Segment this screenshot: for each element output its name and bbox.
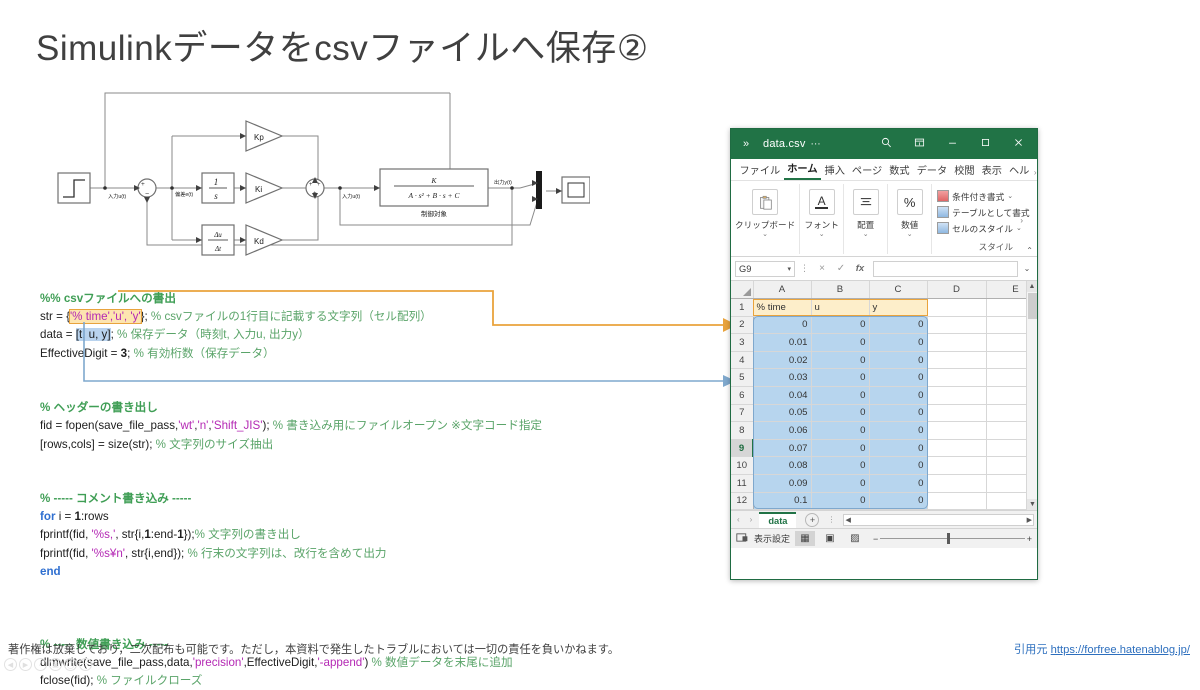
clipboard-icon [752,189,778,215]
view-settings-label[interactable]: 表示設定 [754,532,790,545]
ribbon-overflow-icon[interactable]: › [1020,216,1023,225]
copy-icon[interactable]: ▣ [49,658,62,671]
enter-icon[interactable]: ✓ [833,263,849,274]
style-row-label: 条件付き書式 [952,190,1004,203]
excel-document-title: data.csv [763,138,806,150]
code-token: % 数値データを末尾に追加 [372,656,513,669]
number-format-icon: % [897,189,923,215]
chevron-down-icon[interactable]: ⌄ [1016,224,1022,232]
svg-text:A · s² + B · s + C: A · s² + B · s + C [408,191,461,200]
sum-block-1: + − [138,179,156,198]
code-line: for i = 1:rows [40,508,600,526]
excel-window[interactable]: » data.csv ⋯ ファイルホーム挿入ページ数式データ校閲表示ヘル› [730,128,1038,580]
row-header-2[interactable]: 2 [731,316,753,334]
cell-D12[interactable] [927,492,986,510]
code-blank-line [40,472,600,490]
svg-text:Ki: Ki [255,185,262,194]
zoom-slider-knob[interactable] [947,533,950,544]
cell-A6[interactable]: 0.04 [753,387,811,405]
font-icon: A [809,189,835,215]
prev-icon[interactable]: ◀ [4,658,17,671]
svg-text:Kp: Kp [254,133,264,142]
code-token: fid = fopen(save_file_pass, [40,419,178,432]
alignment-icon [853,189,879,215]
cell-B7[interactable]: 0 [811,404,869,422]
svg-text:s: s [214,191,218,201]
row-header-3[interactable]: 3 [731,334,753,352]
code-token: end [40,565,61,578]
excel-ribbon-tabs[interactable]: ファイルホーム挿入ページ数式データ校閲表示ヘル› [731,159,1037,181]
cell-A9[interactable]: 0.07 [753,439,811,457]
code-token: '%s¥n' [92,547,125,560]
page-title: Simulinkデータをcsvファイルへ保存② [36,20,649,71]
ribbon-display-options-icon[interactable] [903,137,936,151]
ribbon-group-alignment[interactable]: 配置 ⌄ [844,184,888,254]
cell-B11[interactable]: 0 [811,475,869,493]
tabs-overflow-icon[interactable]: › [1034,168,1037,180]
format-as-table-icon [937,206,949,218]
code-token: % ----- コメント書き込み ----- [40,492,191,505]
code-blank-line [40,581,600,599]
code-token: fclose(fid); [40,674,97,687]
code-token: % 保存データ（時刻t, 入力u, 出力y） [117,328,310,341]
cell-C4[interactable]: 0 [869,351,927,369]
code-token: 'precision' [193,656,244,669]
copyright-note: 著作権は放棄しており，二次配布も可能です。ただし，本資料で発生したトラブルにおい… [8,641,619,657]
ribbon-group-clipboard[interactable]: クリップボード ⌄ [731,184,800,254]
code-line: fprintf(fid, '%s¥n', str{i,end}); % 行末の文… [40,545,600,563]
source-credit: 引用元 https://forfree.hatenablog.jp/ [1014,641,1190,657]
code-blank-line [40,454,600,472]
sheet-menu-icon[interactable]: ⋮ [827,515,835,524]
view-page-layout-icon[interactable]: ▣ [820,531,840,546]
table-row[interactable]: 30.0100 [731,334,1037,352]
svg-text:Δu: Δu [213,231,222,239]
mux-block [536,171,542,209]
code-line: end [40,563,600,581]
scroll-up-icon[interactable]: ▲ [1027,281,1037,292]
code-line: % ヘッダーの書き出し [40,399,600,417]
code-token: , str{i,end}); [125,547,188,560]
cell-D3[interactable] [927,334,986,352]
column-header-C[interactable]: C [869,281,927,299]
cell-B4[interactable]: 0 [811,351,869,369]
cell-styles-icon [937,222,949,234]
code-token: }; [141,310,151,323]
excel-tab-0[interactable]: ファイル [736,160,784,180]
cell-A11[interactable]: 0.09 [753,475,811,493]
ribbon-group-label: クリップボード [735,219,795,231]
code-token: '% time','u', 'y' [70,310,141,323]
cell-D11[interactable] [927,475,986,493]
cell-D5[interactable] [927,369,986,387]
row-header-6[interactable]: 6 [731,387,753,405]
svg-text:1: 1 [214,177,219,187]
table-row[interactable]: 70.0500 [731,404,1037,422]
signal-label-output-y: 出力y(t) [494,178,512,186]
code-token: data = [40,328,76,341]
excel-tab-5[interactable]: データ [913,160,951,180]
formula-input[interactable] [873,261,1018,277]
excel-tab-3[interactable]: ページ [848,160,885,180]
code-token: [rows,cols] = size(str); [40,438,156,451]
cell-B8[interactable]: 0 [811,422,869,440]
table-row[interactable]: 90.0700 [731,439,1037,457]
zoom-slider[interactable]: − + [873,534,1032,544]
step-source-block [58,173,90,203]
row-header-7[interactable]: 7 [731,404,753,422]
code-blank-line [40,599,600,617]
view-page-break-icon[interactable]: ▨ [845,531,865,546]
code-blank-line [40,363,600,381]
matlab-code-block: %% csvファイルへの書出str = {'% time','u', 'y'};… [40,290,600,690]
column-header-D[interactable]: D [927,281,986,299]
code-token: :end- [151,528,177,541]
scroll-down-icon[interactable]: ▼ [1027,499,1037,510]
title-ellipsis-icon: ⋯ [811,139,822,150]
cancel-icon[interactable]: × [814,263,830,274]
code-token: ,EffectiveDigit, [244,656,318,669]
svg-text:制御対象: 制御対象 [421,209,448,218]
svg-text:Δt: Δt [214,245,222,253]
cell-C5[interactable]: 0 [869,369,927,387]
table-row[interactable]: 40.0200 [731,351,1037,369]
select-all-corner[interactable] [731,281,753,299]
row-header-4[interactable]: 4 [731,351,753,369]
code-token: }); [184,528,195,541]
cell-C12[interactable]: 0 [869,492,927,510]
excel-ribbon[interactable]: クリップボード ⌄ A フォント ⌄ 配置 ⌄ % 数値 [731,181,1037,257]
code-token: % ヘッダーの書き出し [40,401,158,414]
cell-C11[interactable]: 0 [869,475,927,493]
cell-C3[interactable]: 0 [869,334,927,352]
code-line: str = {'% time','u', 'y'}; % csvファイルの1行目… [40,308,600,326]
svg-text:−: − [145,191,149,198]
chevron-down-icon[interactable]: ▾ [787,265,791,273]
zoom-in-icon[interactable]: + [1027,534,1032,544]
code-token: %% csvファイルへの書出 [40,292,176,305]
column-header-A[interactable]: A [753,281,811,299]
simulink-block-diagram: + − 1 s Δu Δt Kp Ki Kd [50,85,590,270]
zoom-out-icon[interactable]: − [873,534,878,544]
cell-D9[interactable] [927,439,986,457]
cell-C1[interactable]: y [869,299,927,317]
chevron-down-icon[interactable]: ⌄ [1007,192,1013,200]
cell-A5[interactable]: 0.03 [753,369,811,387]
view-normal-icon[interactable]: ▦ [795,531,815,546]
excel-tab-7[interactable]: 表示 [978,160,1005,180]
code-token: i = [55,510,74,523]
excel-formula-bar[interactable]: G9 ▾ ⋮ × ✓ fx ⌄ [731,257,1037,281]
chevron-down-icon[interactable]: ⌄ [762,231,768,238]
cell-B9[interactable]: 0 [811,439,869,457]
minus-icon[interactable]: − [79,658,92,671]
scroll-right-icon[interactable]: ▶ [1027,516,1032,524]
excel-tab-4[interactable]: 数式 [886,160,913,180]
sheet-tab-data[interactable]: data [759,512,796,528]
cell-D2[interactable] [927,316,986,334]
cell-A10[interactable]: 0.08 [753,457,811,475]
excel-worksheet-grid[interactable]: ABCDE 1% timeuy200030.010040.020050.0300… [731,281,1037,510]
expand-formula-bar-icon[interactable]: ⌄ [1021,264,1033,273]
horizontal-scrollbar[interactable]: ◀ ▶ [843,514,1034,526]
ribbon-group-label: 配置 [857,219,874,231]
code-token: ); [262,419,272,432]
cell-C7[interactable]: 0 [869,404,927,422]
gain-block-kp: Kp [246,121,282,151]
table-row[interactable]: 2000 [731,316,1037,334]
row-header-1[interactable]: 1 [731,299,753,317]
cell-C2[interactable]: 0 [869,316,927,334]
code-token: '-append' [317,656,364,669]
code-line: fid = fopen(save_file_pass,'wt','n','Shi… [40,417,600,435]
signal-label-input-u: 入力u(t) [108,192,126,200]
code-blank-line [40,381,600,399]
cell-D1[interactable] [927,299,986,317]
conditional-formatting-icon [937,190,949,202]
derivative-block: Δu Δt [202,225,234,255]
code-token: 'n' [198,419,209,432]
scrollbar-thumb[interactable] [1028,293,1037,319]
gain-block-ki: Ki [246,173,282,203]
next-sheet-icon[interactable]: › [747,515,756,524]
formula-bar-divider-icon: ⋮ [798,263,811,274]
view-settings-icon [736,532,749,545]
cell-B10[interactable]: 0 [811,457,869,475]
code-token: % csvファイルの1行目に記載する文字列（セル配列） [151,310,432,323]
table-row[interactable]: 80.0600 [731,422,1037,440]
conditional-formatting-button[interactable]: 条件付き書式 ⌄ [937,188,1035,204]
svg-text:Kd: Kd [254,237,264,246]
close-icon[interactable] [1002,137,1035,151]
code-token: EffectiveDigit = [40,347,121,360]
cell-B3[interactable]: 0 [811,334,869,352]
signal-label-pid-u: 入力u(t) [342,192,360,200]
table-row[interactable]: 50.0300 [731,369,1037,387]
source-credit-link[interactable]: https://forfree.hatenablog.jp/ [1051,644,1190,656]
cell-B12[interactable]: 0 [811,492,869,510]
table-row[interactable]: 100.0800 [731,457,1037,475]
code-token: % ファイルクローズ [97,674,203,687]
ribbon-collapse-icon[interactable]: ⌃ [1026,246,1033,255]
ribbon-group-number[interactable]: % 数値 ⌄ [888,184,932,254]
code-line: % ----- コメント書き込み ----- [40,490,600,508]
cell-D7[interactable] [927,404,986,422]
code-blank-line [40,617,600,635]
table-row[interactable]: 60.0400 [731,387,1037,405]
table-row[interactable]: 120.100 [731,492,1037,510]
source-credit-label: 引用元 [1014,644,1048,656]
code-token: % 行末の文字列は、改行を含めて出力 [188,547,387,560]
cell-A2[interactable]: 0 [753,316,811,334]
sheet-tab-bar[interactable]: ‹ › data + ⋮ ◀ ▶ [731,510,1037,528]
row-header-8[interactable]: 8 [731,422,753,440]
style-row-label: テーブルとして書式 [952,206,1029,219]
ribbon-group-font[interactable]: A フォント ⌄ [800,184,844,254]
row-header-12[interactable]: 12 [731,492,753,510]
ribbon-group-styles[interactable]: 条件付き書式 ⌄ テーブルとして書式 セルのスタイル ⌄ スタイル › [932,184,1037,254]
code-line: data = [t, u, y]; % 保存データ（時刻t, 入力u, 出力y） [40,326,600,344]
scroll-left-icon[interactable]: ◀ [845,516,850,524]
cell-D6[interactable] [927,387,986,405]
cell-D10[interactable] [927,457,986,475]
excel-tab-8[interactable]: ヘル [1005,160,1032,180]
column-header-row: ABCDE [731,281,1037,299]
next-icon[interactable]: ▶ [19,658,32,671]
code-token: fprintf(fid, [40,547,92,560]
chevron-down-icon[interactable]: ⌄ [819,231,825,238]
code-token: % 文字列のサイズ抽出 [156,438,274,451]
ribbon-group-label: フォント [804,219,838,231]
name-box-value: G9 [739,264,751,274]
table-row[interactable]: 110.0900 [731,475,1037,493]
plant-transfer-function-block: K A · s² + B · s + C 制御対象 [380,169,488,218]
cell-B2[interactable]: 0 [811,316,869,334]
excel-tab-1[interactable]: ホーム [784,158,821,180]
excel-tab-2[interactable]: 挿入 [821,160,848,180]
cell-C10[interactable]: 0 [869,457,927,475]
code-token: , str{i, [115,528,144,541]
cell-A7[interactable]: 0.05 [753,404,811,422]
code-line: [rows,cols] = size(str); % 文字列のサイズ抽出 [40,436,600,454]
cell-C9[interactable]: 0 [869,439,927,457]
zoom-slider-track[interactable] [880,538,1024,539]
code-token: % 書き込み用にファイルオープン ※文字コード指定 [273,419,542,432]
styles-group-label: スタイル [979,241,1013,253]
cell-D4[interactable] [927,351,986,369]
quick-access-chevron-icon[interactable]: » [733,138,759,150]
pen-icon[interactable]: / [34,658,47,671]
excel-title-bar: » data.csv ⋯ [731,129,1037,159]
code-token: '%s,' [92,528,116,541]
cell-C8[interactable]: 0 [869,422,927,440]
code-token: % 文字列の書き出し [195,528,301,541]
worksheet-body[interactable]: 1% timeuy200030.010040.020050.030060.040… [731,299,1037,510]
svg-text:K: K [430,176,437,185]
cell-A3[interactable]: 0.01 [753,334,811,352]
search-icon[interactable] [870,137,903,151]
code-token: % 有効桁数（保存データ） [134,347,275,360]
style-row-label: セルのスタイル [952,222,1013,235]
table-row[interactable]: 1% timeuy [731,299,1037,317]
svg-text:+: + [141,181,145,188]
code-token: str = { [40,310,70,323]
row-header-10[interactable]: 10 [731,457,753,475]
cell-B1[interactable]: u [811,299,869,317]
chevron-down-icon[interactable]: ⌄ [907,231,913,238]
prev-sheet-icon[interactable]: ‹ [734,515,743,524]
scope-block [562,177,590,203]
signal-label-error-e: 偏差e(t) [175,190,193,198]
maximize-icon[interactable] [969,137,1002,151]
code-token: [t, u, y] [76,328,111,341]
ribbon-group-label: 数値 [901,219,918,231]
code-line: %% csvファイルへの書出 [40,290,600,308]
excel-status-bar[interactable]: 表示設定 ▦ ▣ ▨ − + [731,528,1037,548]
add-sheet-icon[interactable]: + [805,513,819,527]
worksheet-table[interactable]: ABCDE 1% timeuy200030.010040.020050.0300… [731,281,1037,510]
cell-B6[interactable]: 0 [811,387,869,405]
code-token: 'wt' [178,419,194,432]
excel-tab-6[interactable]: 校閲 [951,160,978,180]
code-line: fprintf(fid, '%s,', str{i,1:end-1});% 文字… [40,526,600,544]
minimize-icon[interactable] [936,137,969,151]
playback-control-icons[interactable]: ◀ ▶ / ▣ ◯ − [4,658,92,671]
row-header-9[interactable]: 9 [731,439,753,457]
chevron-down-icon[interactable]: ⌄ [863,231,869,238]
code-token: for [40,510,55,523]
code-token: 'Shift_JIS' [212,419,263,432]
code-token: ) [364,656,371,669]
name-box[interactable]: G9 ▾ [735,261,795,277]
integrator-block: 1 s [202,173,234,203]
code-token: fprintf(fid, [40,528,92,541]
column-header-B[interactable]: B [811,281,869,299]
cell-A12[interactable]: 0.1 [753,492,811,510]
row-header-11[interactable]: 11 [731,475,753,493]
vertical-scrollbar[interactable]: ▲ ▼ [1026,281,1037,510]
code-token: :rows [81,510,109,523]
cell-D8[interactable] [927,422,986,440]
cell-A1[interactable]: % time [753,299,811,317]
insert-function-icon[interactable]: fx [852,263,868,274]
cell-A4[interactable]: 0.02 [753,351,811,369]
zoom-icon[interactable]: ◯ [64,658,77,671]
row-header-5[interactable]: 5 [731,369,753,387]
cell-A8[interactable]: 0.06 [753,422,811,440]
code-line: EffectiveDigit = 3; % 有効桁数（保存データ） [40,345,600,363]
cell-B5[interactable]: 0 [811,369,869,387]
gain-block-kd: Kd [246,225,282,255]
cell-C6[interactable]: 0 [869,387,927,405]
